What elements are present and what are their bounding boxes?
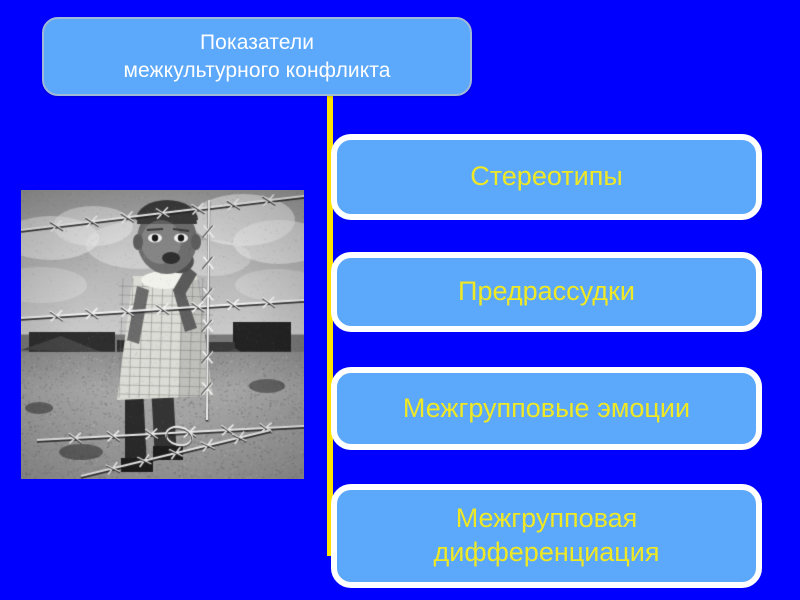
item-label: Межгрупповая дифференциация xyxy=(424,502,670,570)
photo-image xyxy=(21,190,304,479)
item-box-intergroup-differentiation[interactable]: Межгрупповая дифференциация xyxy=(331,484,762,588)
child-behind-barbed-wire-photo xyxy=(21,190,304,479)
item-box-stereotypes[interactable]: Стереотипы xyxy=(331,134,762,220)
item-box-prejudices[interactable]: Предрассудки xyxy=(331,252,762,332)
title-box[interactable]: Показатели межкультурного конфликта xyxy=(42,17,472,96)
item-box-intergroup-emotions[interactable]: Межгрупповые эмоции xyxy=(331,367,762,450)
item-label: Предрассудки xyxy=(448,275,645,309)
item-label: Межгрупповые эмоции xyxy=(393,392,700,426)
page-title: Показатели межкультурного конфликта xyxy=(111,29,402,84)
slide-canvas: Показатели межкультурного конфликта Стер… xyxy=(0,0,800,600)
item-label: Стереотипы xyxy=(460,160,633,194)
